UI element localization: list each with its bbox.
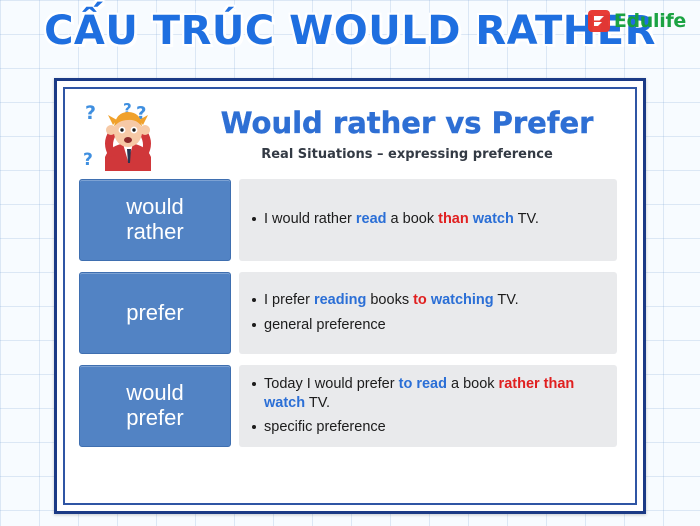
bullet-text: I would rather bbox=[264, 211, 356, 227]
highlight-blue: watch bbox=[473, 211, 514, 227]
row-content: I would rather read a book than watch TV… bbox=[239, 179, 617, 261]
row-label: wouldprefer bbox=[79, 365, 231, 447]
row-content: I prefer reading books to watching TV.ge… bbox=[239, 272, 617, 354]
highlight-red: rather than bbox=[499, 376, 575, 392]
example-bullet: specific preference bbox=[251, 418, 605, 437]
bullet-text: TV. bbox=[494, 292, 519, 308]
comparison-row: preferI prefer reading books to watching… bbox=[79, 272, 617, 354]
highlight-blue: reading bbox=[314, 292, 366, 308]
highlight-blue: to read bbox=[399, 376, 447, 392]
card-header: ? ? ? ? ? bbox=[79, 99, 617, 171]
bullet-text: TV. bbox=[305, 395, 330, 411]
edulife-logo-text: Edulife bbox=[614, 10, 686, 32]
bullet-text: a book bbox=[387, 211, 439, 227]
example-bullet: I would rather read a book than watch TV… bbox=[251, 210, 605, 229]
bullet-text: I prefer bbox=[264, 292, 314, 308]
row-content: Today I would prefer to read a book rath… bbox=[239, 365, 617, 447]
row-label-line1: would bbox=[126, 381, 183, 406]
example-bullet: general preference bbox=[251, 316, 605, 335]
bullet-text: specific preference bbox=[264, 419, 386, 435]
bullet-text: books bbox=[366, 292, 413, 308]
row-label: prefer bbox=[79, 272, 231, 354]
bullet-text: general preference bbox=[264, 317, 386, 333]
bullet-text: Today I would prefer bbox=[264, 376, 399, 392]
row-label-line1: would bbox=[126, 195, 183, 220]
highlight-red: than bbox=[438, 211, 469, 227]
lesson-card: ? ? ? ? ? bbox=[54, 78, 646, 514]
header-text-block: Would rather vs Prefer Real Situations –… bbox=[203, 108, 617, 162]
example-bullet: I prefer reading books to watching TV. bbox=[251, 291, 605, 310]
highlight-blue: read bbox=[356, 211, 387, 227]
card-title: Would rather vs Prefer bbox=[203, 108, 611, 138]
comparison-row: wouldratherI would rather read a book th… bbox=[79, 179, 617, 261]
confused-person-with-question-marks-icon: ? ? ? ? ? bbox=[79, 99, 199, 171]
comparison-rows: wouldratherI would rather read a book th… bbox=[79, 179, 617, 447]
edulife-watermark-logo: Edulife bbox=[588, 10, 686, 32]
highlight-blue: watching bbox=[431, 292, 494, 308]
highlight-red: to bbox=[413, 292, 427, 308]
bullet-text: a book bbox=[447, 376, 499, 392]
bullet-text: TV. bbox=[514, 211, 539, 227]
row-label-line2: rather bbox=[126, 220, 183, 245]
poster-canvas: CẤU TRÚC WOULD RATHER Edulife ? ? ? ? bbox=[0, 0, 700, 526]
svg-text:?: ? bbox=[83, 150, 93, 170]
card-subtitle: Real Situations – expressing preference bbox=[203, 147, 611, 162]
row-label-line2: prefer bbox=[126, 406, 183, 431]
lesson-card-inner: ? ? ? ? ? bbox=[63, 87, 637, 505]
row-label-line1: prefer bbox=[126, 301, 183, 326]
row-label: wouldrather bbox=[79, 179, 231, 261]
edulife-play-mark-icon bbox=[588, 10, 610, 32]
highlight-blue: watch bbox=[264, 395, 305, 411]
svg-text:?: ? bbox=[85, 102, 96, 124]
example-bullet: Today I would prefer to read a book rath… bbox=[251, 375, 605, 413]
comparison-row: wouldpreferToday I would prefer to read … bbox=[79, 365, 617, 447]
